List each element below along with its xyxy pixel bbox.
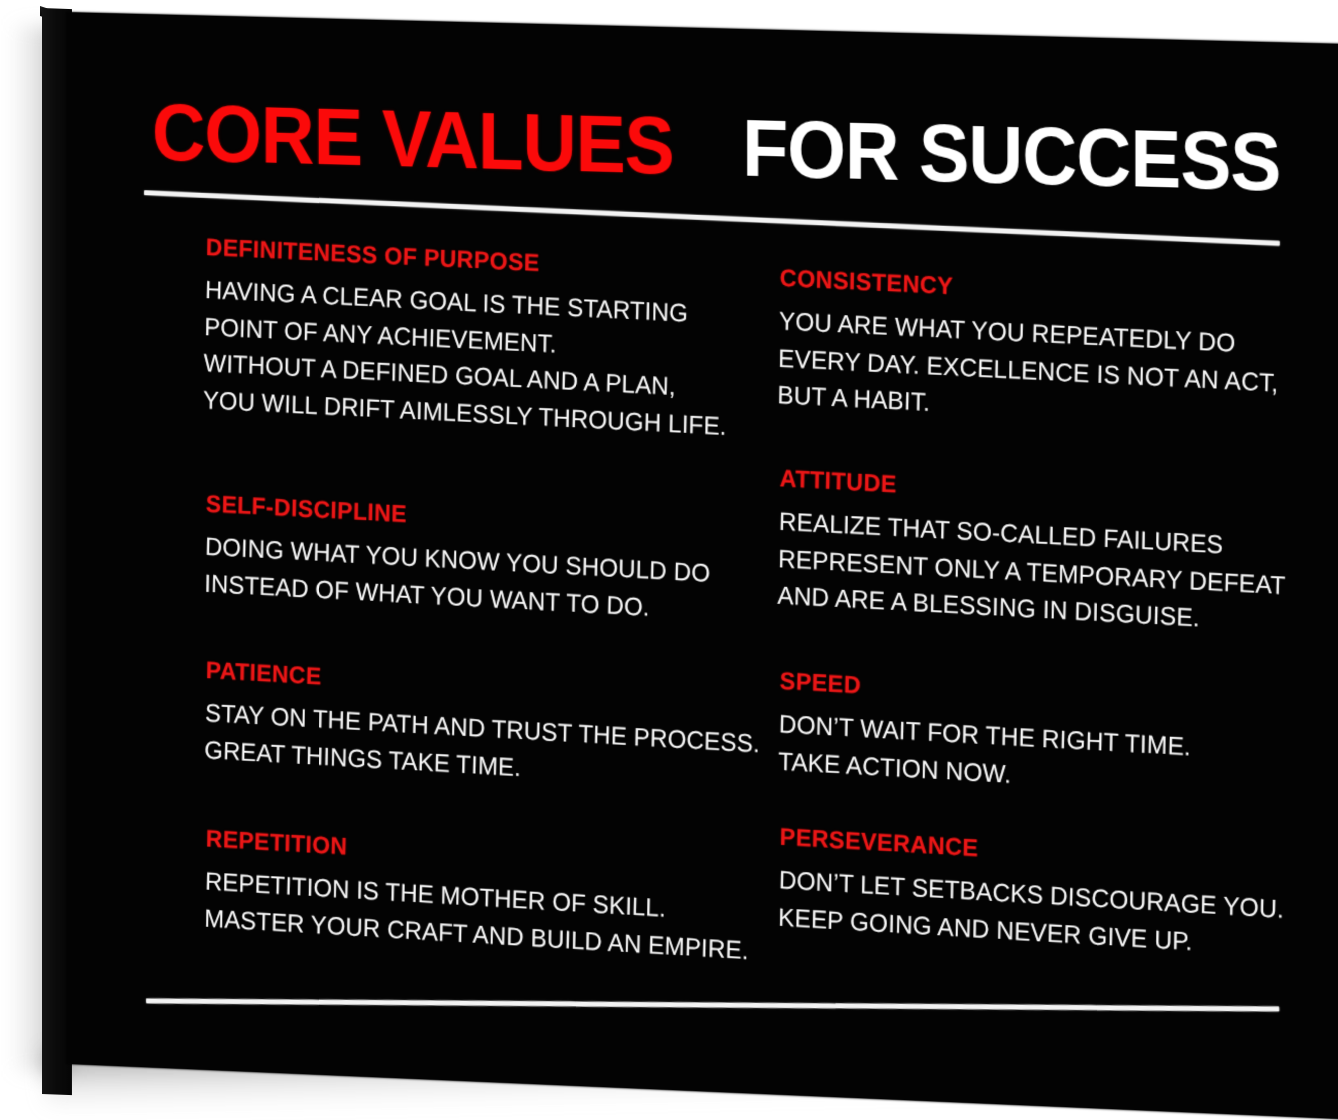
value-section: REPETITIONREPETITION IS THE MOTHER OF SK… xyxy=(204,825,733,968)
title-core-values: CORE VALUES xyxy=(152,92,674,187)
divider-rule-bottom xyxy=(146,998,1279,1011)
value-section: SPEEDDON’T WAIT FOR THE RIGHT TIME.TAKE … xyxy=(778,668,1245,807)
value-section: ATTITUDEREALIZE THAT SO-CALLED FAILURESR… xyxy=(777,465,1244,639)
values-columns: DEFINITENESS OF PURPOSEHAVING A CLEAR GO… xyxy=(66,230,1338,1003)
values-column-left: DEFINITENESS OF PURPOSEHAVING A CLEAR GO… xyxy=(206,234,733,249)
value-section: SELF-DISCIPLINEDOING WHAT YOU KNOW YOU S… xyxy=(204,491,733,631)
value-section: CONSISTENCYYOU ARE WHAT YOU REPEATEDLY D… xyxy=(777,265,1244,438)
canvas-print-photo: CORE VALUESFOR SUCCESS DEFINITENESS OF P… xyxy=(0,0,1338,1112)
value-body: DOING WHAT YOU KNOW YOU SHOULD DOINSTEAD… xyxy=(204,529,732,631)
value-body: STAY ON THE PATH AND TRUST THE PROCESS.G… xyxy=(204,695,732,798)
value-body: HAVING A CLEAR GOAL IS THE STARTINGPOINT… xyxy=(203,272,733,445)
value-section: PERSEVERANCEDON’T LET SETBACKS DISCOURAG… xyxy=(778,824,1245,964)
poster-content: CORE VALUESFOR SUCCESS DEFINITENESS OF P… xyxy=(66,12,1338,1120)
value-section: DEFINITENESS OF PURPOSEHAVING A CLEAR GO… xyxy=(203,234,733,445)
value-body: DON’T WAIT FOR THE RIGHT TIME.TAKE ACTIO… xyxy=(778,706,1244,806)
poster-title: CORE VALUESFOR SUCCESS xyxy=(152,92,1317,204)
canvas-face: CORE VALUESFOR SUCCESS DEFINITENESS OF P… xyxy=(66,12,1338,1120)
value-section: PATIENCESTAY ON THE PATH AND TRUST THE P… xyxy=(204,657,733,798)
value-body: REALIZE THAT SO-CALLED FAILURESREPRESENT… xyxy=(777,504,1244,640)
title-for-success: FOR SUCCESS xyxy=(742,108,1280,204)
value-body: YOU ARE WHAT YOU REPEATEDLY DOEVERY DAY.… xyxy=(777,303,1244,437)
values-column-right: CONSISTENCYYOU ARE WHAT YOU REPEATEDLY D… xyxy=(780,250,1245,263)
value-body: DON’T LET SETBACKS DISCOURAGE YOU.KEEP G… xyxy=(778,862,1244,963)
